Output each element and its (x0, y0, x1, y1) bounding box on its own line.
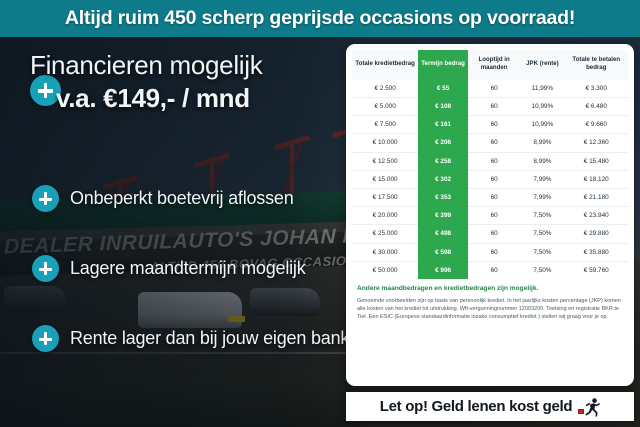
table-header-row: Totale kredietbedrag Termijn bedrag Loop… (352, 50, 628, 80)
running-man-icon (578, 397, 600, 417)
table-cell: 60 (468, 170, 520, 188)
table-cell: € 30.000 (352, 243, 418, 261)
table-cell: € 35.880 (565, 243, 629, 261)
table-cell: € 20.000 (352, 207, 418, 225)
loan-warning-text: Let op! Geld lenen kost geld (380, 398, 572, 415)
promo-bullet-1: Onbeperkt boetevrij aflossen (32, 185, 352, 212)
table-cell: 60 (468, 98, 520, 116)
table-cell: 7,50% (520, 225, 564, 243)
table-cell: € 55 (418, 80, 468, 98)
promo-bullet-label: Onbeperkt boetevrij aflossen (70, 188, 294, 209)
plus-icon (32, 255, 59, 282)
table-cell: € 996 (418, 261, 468, 279)
table-row: € 25.000€ 498607,50%€ 29.880 (352, 225, 628, 243)
table-cell: 8,99% (520, 152, 564, 170)
table-cell: € 10.000 (352, 134, 418, 152)
table-cell: € 9.660 (565, 116, 629, 134)
table-row: € 5.000€ 1086010,99%€ 6.480 (352, 98, 628, 116)
table-row: € 12.500€ 258608,99%€ 15.480 (352, 152, 628, 170)
table-cell: € 59.760 (565, 261, 629, 279)
table-cell: € 25.000 (352, 225, 418, 243)
table-cell: 60 (468, 225, 520, 243)
table-cell: € 12.360 (565, 134, 629, 152)
table-row: € 15.000€ 302607,99%€ 18.120 (352, 170, 628, 188)
table-cell: € 29.880 (565, 225, 629, 243)
table-cell: 7,50% (520, 243, 564, 261)
plus-icon (32, 325, 59, 352)
table-cell: 11,99% (520, 80, 564, 98)
table-cell: € 15.000 (352, 170, 418, 188)
table-cell: 60 (468, 243, 520, 261)
table-cell: € 206 (418, 134, 468, 152)
promo-headline-line2: v.a. €149,- / mnd (30, 81, 350, 115)
top-banner: Altijd ruim 450 scherp geprijsde occasio… (0, 0, 640, 37)
table-row: € 50.000€ 996607,50%€ 59.760 (352, 261, 628, 279)
table-cell: € 17.500 (352, 188, 418, 206)
table-cell: 7,99% (520, 170, 564, 188)
financing-table-card: Totale kredietbedrag Termijn bedrag Loop… (346, 44, 634, 386)
table-cell: 7,50% (520, 207, 564, 225)
promo-headline-line1: Financieren mogelijk (30, 49, 350, 81)
disclaimer-title: Andere maandbedragen en kredietbedragen … (357, 284, 623, 294)
table-cell: 60 (468, 116, 520, 134)
table-row: € 7.500€ 1616010,99%€ 9.660 (352, 116, 628, 134)
promo-bullet-label: Lagere maandtermijn mogelijk (70, 258, 306, 279)
table-cell: € 258 (418, 152, 468, 170)
table-cell: € 23.940 (565, 207, 629, 225)
rate-table: Totale kredietbedrag Termijn bedrag Loop… (352, 50, 628, 279)
table-cell: € 5.000 (352, 98, 418, 116)
table-cell: 7,99% (520, 188, 564, 206)
th-looptijd: Looptijd in maanden (468, 50, 520, 80)
table-cell: € 21.180 (565, 188, 629, 206)
table-cell: 60 (468, 188, 520, 206)
loan-warning-bar: Let op! Geld lenen kost geld (346, 392, 634, 421)
table-cell: 60 (468, 134, 520, 152)
table-cell: 60 (468, 80, 520, 98)
banner-headline: Altijd ruim 450 scherp geprijsde occasio… (65, 7, 575, 30)
table-row: € 20.000€ 399607,50%€ 23.940 (352, 207, 628, 225)
table-cell: 8,99% (520, 134, 564, 152)
promo-panel: Financieren mogelijk v.a. €149,- / mnd O… (0, 37, 350, 427)
plus-icon (32, 185, 59, 212)
table-cell: € 108 (418, 98, 468, 116)
disclaimer-block: Andere maandbedragen en kredietbedragen … (346, 279, 634, 322)
table-cell: 10,99% (520, 98, 564, 116)
table-cell: € 353 (418, 188, 468, 206)
table-row: € 17.500€ 353607,99%€ 21.180 (352, 188, 628, 206)
table-cell: € 598 (418, 243, 468, 261)
table-cell: 60 (468, 207, 520, 225)
disclaimer-body: Genoemde voorbeelden zijn op basis van p… (357, 297, 623, 322)
table-cell: € 302 (418, 170, 468, 188)
running-man-figure (584, 398, 600, 417)
table-row: € 30.000€ 598607,50%€ 35.880 (352, 243, 628, 261)
table-cell: € 6.480 (565, 98, 629, 116)
table-row: € 10.000€ 206608,99%€ 12.360 (352, 134, 628, 152)
table-cell: € 12.500 (352, 152, 418, 170)
promo-headline: Financieren mogelijk v.a. €149,- / mnd (30, 49, 350, 115)
table-cell: € 3.300 (565, 80, 629, 98)
rate-table-body: € 2.500€ 556011,99%€ 3.300€ 5.000€ 10860… (352, 80, 628, 279)
table-cell: 60 (468, 152, 520, 170)
rate-table-wrapper: Totale kredietbedrag Termijn bedrag Loop… (346, 44, 634, 279)
th-kredietbedrag: Totale kredietbedrag (352, 50, 418, 80)
table-cell: € 399 (418, 207, 468, 225)
table-cell: € 161 (418, 116, 468, 134)
table-cell: 10,99% (520, 116, 564, 134)
table-row: € 2.500€ 556011,99%€ 3.300 (352, 80, 628, 98)
table-cell: € 50.000 (352, 261, 418, 279)
th-termijnbedrag: Termijn bedrag (418, 50, 468, 80)
table-cell: € 498 (418, 225, 468, 243)
table-cell: € 7.500 (352, 116, 418, 134)
table-cell: € 2.500 (352, 80, 418, 98)
th-totaal: Totale te betalen bedrag (565, 50, 629, 80)
promo-bullet-3: Rente lager dan bij jouw eigen bank (32, 325, 352, 352)
table-cell: 7,50% (520, 261, 564, 279)
table-cell: 60 (468, 261, 520, 279)
table-cell: € 18.120 (565, 170, 629, 188)
table-cell: € 15.480 (565, 152, 629, 170)
promo-bullet-2: Lagere maandtermijn mogelijk (32, 255, 352, 282)
promo-bullet-label: Rente lager dan bij jouw eigen bank (70, 328, 349, 349)
th-jpk: JPK (rente) (520, 50, 564, 80)
